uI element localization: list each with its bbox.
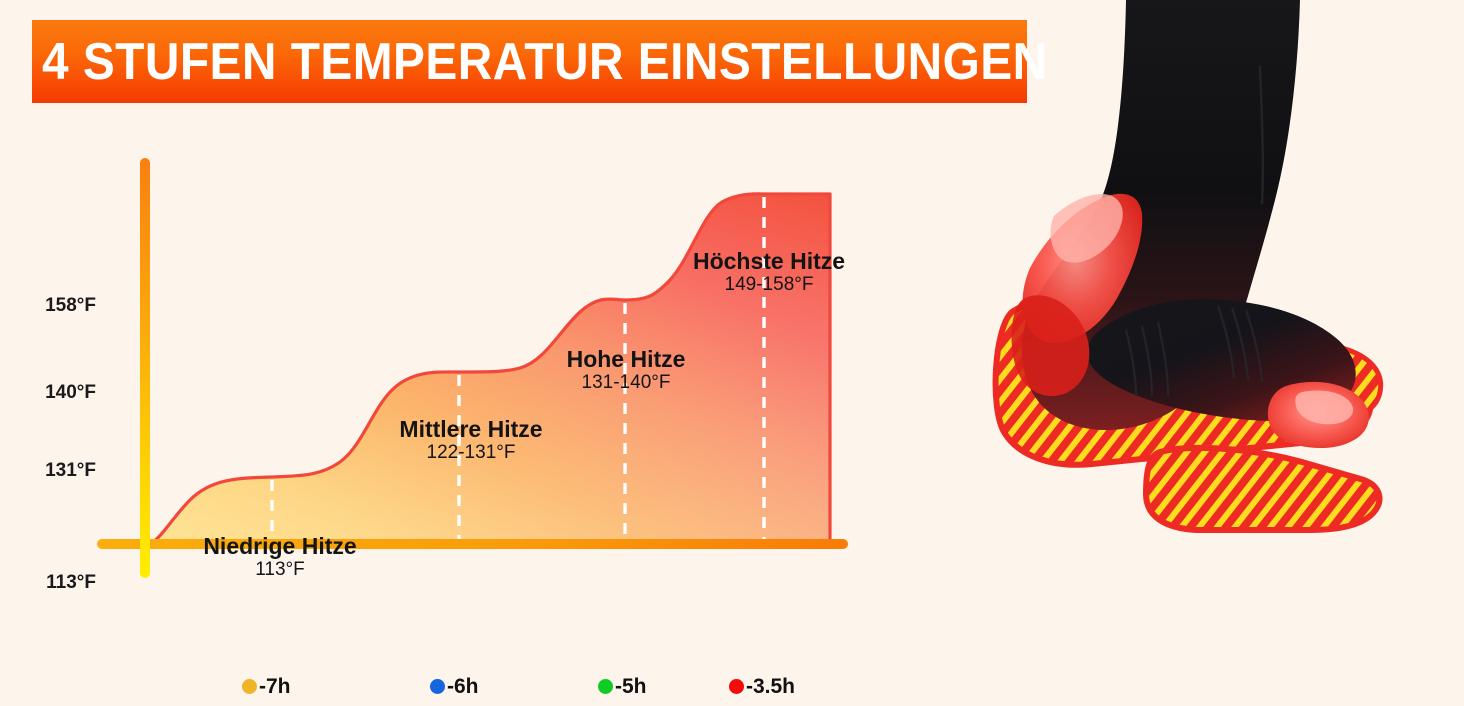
step-range-4: 149-158°F xyxy=(680,274,858,296)
legend-item-6h[interactable]: -6h xyxy=(430,676,479,697)
y-tick-131-label: 131°F xyxy=(45,460,96,481)
area-fill-highlight xyxy=(146,194,830,545)
legend-label-5h: -5h xyxy=(615,676,647,697)
step-name-3: Hohe Hitze xyxy=(542,348,710,372)
step-annotation-mittlere-hitze: Mittlere Hitze 122-131°F xyxy=(372,418,570,464)
y-tick-158-label: 158°F xyxy=(45,295,96,316)
y-tick-140-label: 140°F xyxy=(45,382,96,403)
legend-item-5h[interactable]: -5h xyxy=(598,676,647,697)
y-tick-131: 131°F xyxy=(18,460,96,482)
step-name-4: Höchste Hitze xyxy=(680,250,858,274)
legend-dot-icon-7h xyxy=(242,679,257,694)
y-tick-113: 113°F xyxy=(18,572,96,594)
legend-dot-icon-5h xyxy=(598,679,613,694)
legend-label-6h: -6h xyxy=(447,676,479,697)
legend-dot-icon-35h xyxy=(729,679,744,694)
legend-label-35h: -3.5h xyxy=(746,676,795,697)
y-tick-140: 140°F xyxy=(18,382,96,404)
chart-legend: -7h -6h -5h -3.5h xyxy=(0,676,900,706)
step-range-3: 131-140°F xyxy=(542,372,710,394)
sock-illustration xyxy=(950,0,1464,600)
page-title: 4 STUFEN TEMPERATUR EINSTELLUNGEN xyxy=(42,36,1048,88)
y-axis-line xyxy=(140,158,150,578)
step-annotation-hohe-hitze: Hohe Hitze 131-140°F xyxy=(542,348,710,394)
step-range-2: 122-131°F xyxy=(372,442,570,464)
legend-dot-icon-6h xyxy=(430,679,445,694)
step-name-2: Mittlere Hitze xyxy=(372,418,570,442)
step-annotation-hoechste-hitze: Höchste Hitze 149-158°F xyxy=(680,250,858,296)
y-tick-158: 158°F xyxy=(18,295,96,317)
chart-plot-area xyxy=(0,110,900,600)
step-range-1: 113°F xyxy=(180,559,380,581)
product-image-heated-sock xyxy=(950,0,1464,600)
y-tick-113-label: 113°F xyxy=(46,572,96,593)
step-annotation-niedrige-hitze: Niedrige Hitze 113°F xyxy=(180,535,380,581)
insole-lower xyxy=(1146,448,1379,530)
step-name-1: Niedrige Hitze xyxy=(180,535,380,559)
legend-label-7h: -7h xyxy=(259,676,291,697)
header-banner: 4 STUFEN TEMPERATUR EINSTELLUNGEN xyxy=(32,20,1027,103)
legend-item-35h[interactable]: -3.5h xyxy=(729,676,795,697)
temperature-chart: 158°F 140°F 131°F 113°F Niedrige Hitze 1… xyxy=(0,110,900,600)
insole-stripe-heel xyxy=(1146,448,1379,530)
area-series xyxy=(146,194,830,545)
legend-item-7h[interactable]: -7h xyxy=(242,676,291,697)
